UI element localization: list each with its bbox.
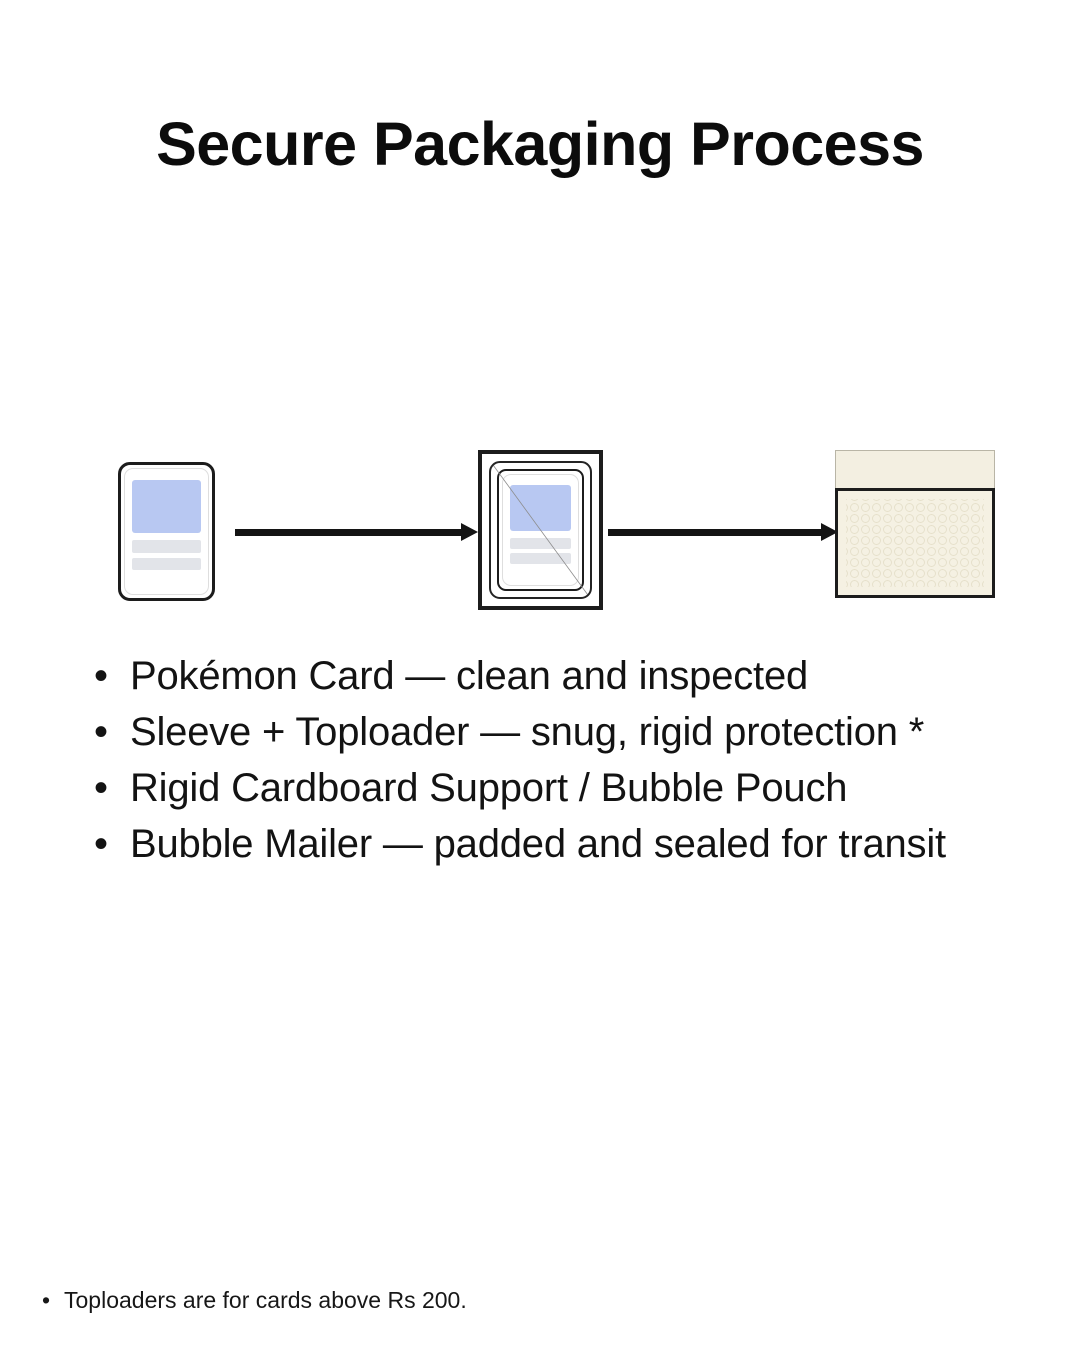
mailer-body <box>835 488 995 598</box>
list-item: • Sleeve + Toploader — snug, rigid prote… <box>94 704 1054 760</box>
card-artwork-box <box>510 485 572 531</box>
bullet-marker-icon: • <box>94 648 130 704</box>
arrow-head <box>461 523 478 541</box>
arrow-shaft <box>608 529 823 536</box>
card-face <box>124 468 209 595</box>
card-face <box>502 474 579 586</box>
list-item-label: Bubble Mailer — padded and sealed for tr… <box>130 816 946 872</box>
card-artwork-box <box>132 480 200 533</box>
card-text-line-2 <box>132 558 200 571</box>
footnote: • Toploaders are for cards above Rs 200. <box>42 1284 942 1316</box>
list-item-label: Rigid Cardboard Support / Bubble Pouch <box>130 760 847 816</box>
pokemon-card-icon <box>118 462 215 601</box>
bullet-marker-icon: • <box>94 760 130 816</box>
page-title: Secure Packaging Process <box>0 106 1080 182</box>
pokemon-card-inside-sleeve-icon <box>497 469 584 591</box>
bullet-marker-icon: • <box>94 704 130 760</box>
slide-page: Secure Packaging Process <box>0 0 1080 1350</box>
list-item: • Rigid Cardboard Support / Bubble Pouch <box>94 760 1054 816</box>
arrow-shaft <box>235 529 463 536</box>
bubble-wrap-texture-icon <box>838 491 992 595</box>
bullet-marker-icon: • <box>94 816 130 872</box>
footnote-label: Toploaders are for cards above Rs 200. <box>64 1284 467 1316</box>
list-item: • Pokémon Card — clean and inspected <box>94 648 1054 704</box>
mailer-flap <box>835 450 995 488</box>
packaging-flow-diagram <box>0 430 1080 630</box>
list-item-label: Pokémon Card — clean and inspected <box>130 648 808 704</box>
bubble-mailer-icon <box>835 450 995 626</box>
card-text-line-2 <box>510 553 572 564</box>
toploader-icon <box>478 450 603 610</box>
card-text-line-1 <box>510 538 572 549</box>
card-text-line-1 <box>132 540 200 553</box>
list-item-label: Sleeve + Toploader — snug, rigid protect… <box>130 704 924 760</box>
sleeve-icon <box>489 461 592 599</box>
packaging-steps-list: • Pokémon Card — clean and inspected • S… <box>94 648 1054 872</box>
footnote-bullet-marker-icon: • <box>42 1284 64 1316</box>
list-item: • Bubble Mailer — padded and sealed for … <box>94 816 1054 872</box>
